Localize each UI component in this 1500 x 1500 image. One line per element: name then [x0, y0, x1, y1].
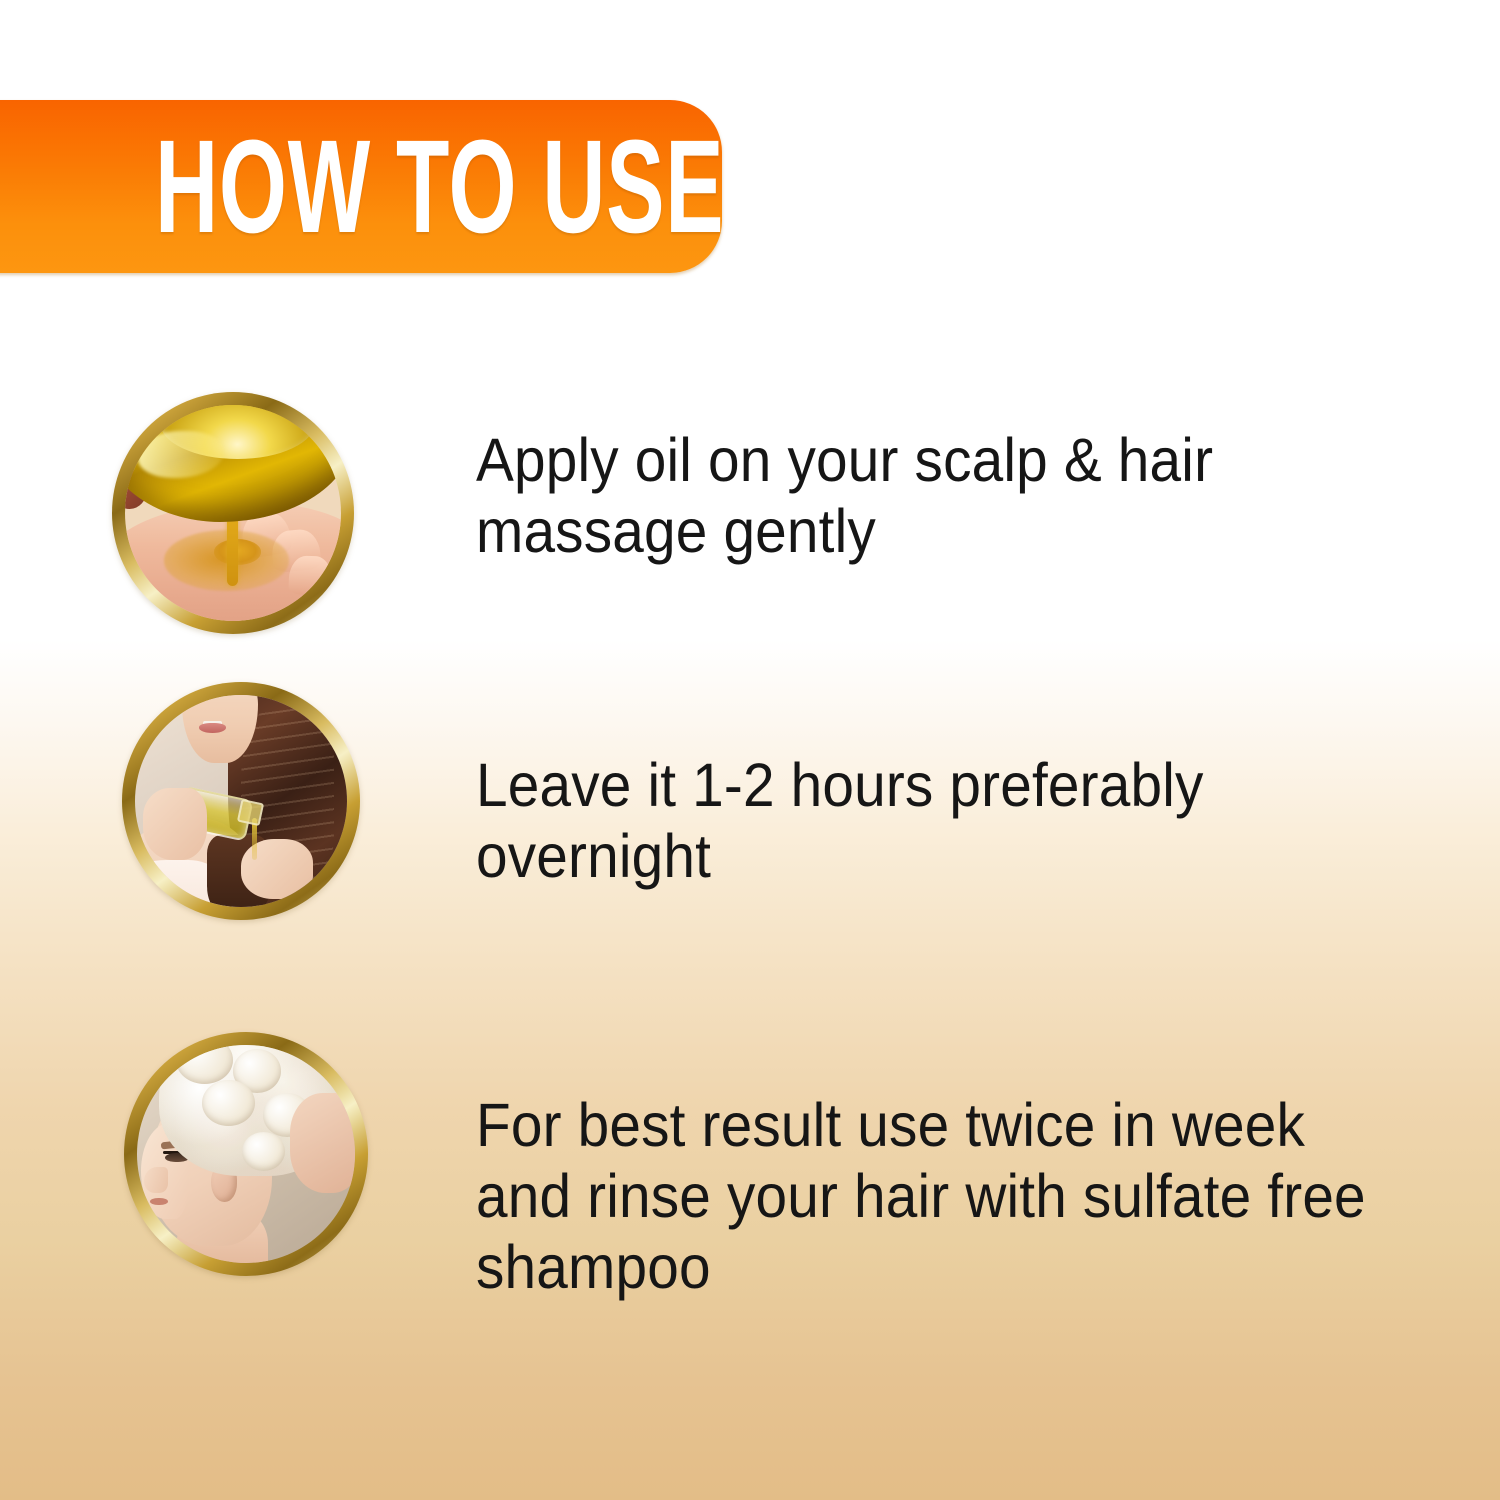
step-2-text: Leave it 1-2 hours preferably overnight: [476, 750, 1369, 892]
bottle-neck-shape: [237, 799, 264, 826]
nose-shape: [144, 1167, 168, 1193]
step-2-photo-hair-oiling: [122, 682, 360, 920]
shampooing-scene: [137, 1045, 355, 1263]
step-item: For best result use twice in week and ri…: [0, 990, 1500, 1350]
hand-shape: [290, 1093, 355, 1193]
step-1-text: Apply oil on your scalp & hair massage g…: [476, 425, 1369, 567]
step-1-photo-oil-pour: [112, 392, 354, 634]
photo-frame-inner: [137, 1045, 355, 1263]
finger-shape: [288, 555, 333, 595]
step-3-photo-shampooing: [124, 1032, 368, 1276]
photo-frame-inner: [135, 695, 347, 907]
step-3-text: For best result use twice in week and ri…: [476, 1090, 1369, 1302]
photo-frame-inner: [125, 405, 341, 621]
suds-bubble: [202, 1080, 254, 1126]
hair-oiling-scene: [135, 695, 347, 907]
header-banner: HOW TO USE: [0, 100, 722, 273]
pouring-hand-shape: [143, 788, 207, 860]
step-item: Apply oil on your scalp & hair massage g…: [0, 330, 1500, 630]
page-title: HOW TO USE: [155, 120, 724, 253]
oil-pour-scene: [125, 405, 341, 621]
lips-shape: [150, 1198, 167, 1205]
step-item: Leave it 1-2 hours preferably overnight: [0, 630, 1500, 990]
steps-list: Apply oil on your scalp & hair massage g…: [0, 330, 1500, 1350]
how-to-use-infographic: HOW TO USE: [0, 0, 1500, 1500]
